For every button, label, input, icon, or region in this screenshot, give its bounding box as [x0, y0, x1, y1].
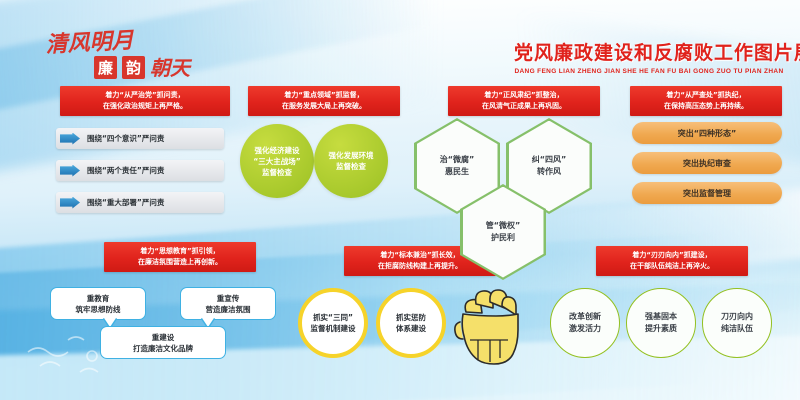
green-ring-3-line2: 纯洁队伍 — [721, 323, 753, 335]
green-circle-2-line1: 强化发展环境 — [329, 150, 374, 161]
calligraphy-logo: 清风明月 廉 韵 朝天 — [46, 26, 276, 86]
orange-pill-2[interactable]: 突出执纪审查 — [632, 152, 782, 174]
pill-item-2[interactable]: 围绕“两个责任”严问责 — [56, 160, 224, 181]
pill-item-2-label: 围绕“两个责任”严问责 — [87, 165, 164, 176]
red-banner-2-line1: 着力“重点领域”抓监督， — [254, 90, 394, 101]
bubble-2-line1: 重宣传 — [206, 293, 251, 304]
poster-title-block: 党风廉政建设和反腐败工作图片展 DANG FENG LIAN ZHENG JIA… — [514, 38, 784, 75]
bubble-2-line2: 营造廉洁氛围 — [206, 304, 251, 315]
page-title: 党风廉政建设和反腐败工作图片展 — [514, 38, 784, 65]
hexagon-3[interactable]: 管“微权” 护民利 — [460, 184, 546, 280]
bubble-3[interactable]: 重建设 打造廉洁文化品牌 — [100, 326, 226, 359]
red-banner-3-line2: 在风清气正成果上再巩固。 — [454, 101, 594, 112]
hexagon-3-inner: 管“微权” 护民利 — [463, 187, 544, 278]
red-banner-5: 着力“思想教育”抓引领， 在廉洁氛围营造上再创新。 — [104, 242, 256, 272]
orange-pill-1[interactable]: 突出“四种形态” — [632, 122, 782, 144]
bubble-2[interactable]: 重宣传 营造廉洁氛围 — [180, 287, 276, 320]
red-banner-2-line2: 在服务发展大局上再突破。 — [254, 101, 394, 112]
red-banner-5-line2: 在廉洁氛围营造上再创新。 — [110, 257, 250, 268]
poster-canvas: 清风明月 廉 韵 朝天 党风廉政建设和反腐败工作图片展 DANG FENG LI… — [0, 0, 800, 400]
hexagon-3-line2: 护民利 — [486, 232, 521, 244]
orange-pill-3[interactable]: 突出监督管理 — [632, 182, 782, 204]
yellow-ring-1[interactable]: 抓实“三同” 监督机制建设 — [298, 288, 368, 358]
pill-item-1[interactable]: 围绕“四个意识”严问责 — [56, 128, 224, 149]
hexagon-2-line2: 转作风 — [532, 166, 567, 178]
green-circle-1-line3: 监督检查 — [253, 167, 300, 178]
hexagon-1-line1: 治“微腐” — [440, 154, 475, 166]
green-ring-1[interactable]: 改革创新 激发活力 — [550, 288, 620, 358]
hexagon-3-line1: 管“微权” — [486, 220, 521, 232]
bubble-1[interactable]: 重教育 筑牢思想防线 — [50, 287, 146, 320]
red-banner-7-line2: 在干部队伍纯洁上再淬火。 — [602, 261, 742, 272]
raised-fist-icon — [452, 278, 526, 366]
red-banner-7: 着力“刃刃向内”抓建设， 在干部队伍纯洁上再淬火。 — [596, 246, 748, 276]
red-banner-2: 着力“重点领域”抓监督， 在服务发展大局上再突破。 — [248, 86, 400, 116]
red-banner-5-line1: 着力“思想教育”抓引领， — [110, 246, 250, 257]
arrow-icon — [60, 133, 80, 145]
green-circle-2-line2: 监督检查 — [329, 161, 374, 172]
red-banner-1-line2: 在强化政治规矩上再严格。 — [66, 101, 224, 112]
red-banner-4-line2: 在保持高压态势上再持续。 — [636, 101, 776, 112]
arrow-icon — [60, 197, 80, 209]
green-ring-2-line1: 强基固本 — [645, 311, 677, 323]
green-ring-2[interactable]: 强基固本 提升素质 — [626, 288, 696, 358]
green-circle-2[interactable]: 强化发展环境 监督检查 — [314, 124, 388, 198]
bubble-1-line2: 筑牢思想防线 — [76, 304, 121, 315]
green-circle-1-line1: 强化经济建设 — [253, 145, 300, 156]
yellow-ring-2-line1: 抓实惩防 — [396, 312, 426, 323]
green-ring-1-line2: 激发活力 — [569, 323, 601, 335]
red-banner-7-line1: 着力“刃刃向内”抓建设， — [602, 250, 742, 261]
orange-pill-1-label: 突出“四种形态” — [678, 128, 737, 139]
bubble-1-line1: 重教育 — [76, 293, 121, 304]
logo-line-2-rest: 朝天 — [150, 56, 193, 80]
yellow-ring-2[interactable]: 抓实惩防 体系建设 — [376, 288, 446, 358]
green-ring-1-line1: 改革创新 — [569, 311, 601, 323]
green-circle-1[interactable]: 强化经济建设 “三大主战场” 监督检查 — [240, 124, 314, 198]
red-banner-4: 着力“从严查处”抓执纪， 在保持高压态势上再持续。 — [630, 86, 782, 116]
seal-char-1: 廉 — [98, 59, 113, 77]
logo-line-1: 清风明月 — [46, 27, 135, 58]
hexagon-1-line2: 惠民生 — [440, 166, 475, 178]
pill-item-1-label: 围绕“四个意识”严问责 — [87, 133, 164, 144]
green-circle-1-line2: “三大主战场” — [253, 156, 300, 167]
bubble-3-line1: 重建设 — [133, 332, 193, 343]
red-banner-4-line1: 着力“从严查处”抓执纪， — [636, 90, 776, 101]
pill-item-3-label: 围绕“重大部署”严问责 — [87, 197, 164, 208]
bubble-3-line2: 打造廉洁文化品牌 — [133, 343, 193, 354]
red-banner-1: 着力“从严治党”抓问责， 在强化政治规矩上再严格。 — [60, 86, 230, 116]
arrow-icon — [60, 165, 80, 177]
orange-pill-2-label: 突出执纪审查 — [683, 158, 731, 169]
green-ring-3-line1: 刀刃向内 — [721, 311, 753, 323]
yellow-ring-1-line2: 监督机制建设 — [311, 323, 356, 334]
yellow-ring-2-line2: 体系建设 — [396, 323, 426, 334]
red-banner-3-line1: 着力“正风肃纪”抓整治， — [454, 90, 594, 101]
green-ring-3[interactable]: 刀刃向内 纯洁队伍 — [702, 288, 772, 358]
yellow-ring-1-line1: 抓实“三同” — [311, 312, 356, 323]
pill-item-3[interactable]: 围绕“重大部署”严问责 — [56, 192, 224, 213]
seal-char-2: 韵 — [126, 59, 141, 77]
green-ring-2-line2: 提升素质 — [645, 323, 677, 335]
red-banner-1-line1: 着力“从严治党”抓问责， — [66, 90, 224, 101]
red-banner-3: 着力“正风肃纪”抓整治， 在风清气正成果上再巩固。 — [448, 86, 600, 116]
hexagon-2-line1: 纠“四风” — [532, 154, 567, 166]
page-title-pinyin: DANG FENG LIAN ZHENG JIAN SHE HE FAN FU … — [514, 68, 784, 75]
orange-pill-3-label: 突出监督管理 — [683, 188, 731, 199]
